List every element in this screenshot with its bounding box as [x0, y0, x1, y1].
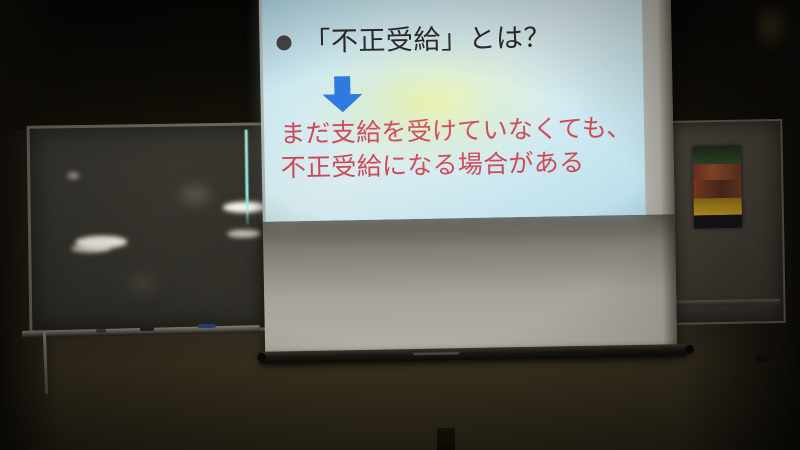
poster-band — [693, 146, 741, 165]
slide-title-row: 「不正受給」とは？ — [276, 24, 551, 56]
grey-marker — [96, 329, 106, 333]
slide-content: 「不正受給」とは？ まだ支給を受けていなくても、 不正受給になる場合がある — [262, 0, 646, 222]
light-glare — [71, 244, 111, 254]
light-glare — [67, 172, 79, 179]
projected-slide: 「不正受給」とは？ まだ支給を受けていなくても、 不正受給になる場合がある — [262, 0, 646, 222]
whiteboard-frame — [27, 122, 278, 333]
light-glare — [227, 229, 261, 237]
poster-band — [694, 198, 742, 215]
poster-band — [693, 180, 741, 199]
slide-body-line: 不正受給になる場合がある — [280, 144, 632, 184]
screen-bar-end-cap — [257, 353, 266, 362]
corner-object — [756, 4, 792, 52]
light-glare — [75, 235, 127, 249]
projection-screen: 「不正受給」とは？ まだ支給を受けていなくても、 不正受給になる場合がある — [259, 0, 678, 362]
blue-marker — [198, 324, 216, 328]
slide-body: まだ支給を受けていなくても、 不正受給になる場合がある — [280, 111, 633, 184]
bullet-dot-icon — [276, 35, 291, 50]
poster-band — [694, 214, 742, 228]
black-marker — [140, 327, 154, 331]
slide-title: 「不正受給」とは？ — [303, 24, 551, 56]
room-photo-scene: 「不正受給」とは？ まだ支給を受けていなくても、 不正受給になる場合がある — [0, 0, 800, 450]
screen-bar-end-cap — [685, 345, 694, 354]
dark-object — [437, 428, 455, 450]
colorful-poster — [693, 146, 742, 229]
light-glare — [130, 275, 156, 291]
left-whiteboard — [27, 122, 278, 333]
right-whiteboard — [658, 119, 786, 325]
light-beam-streak — [245, 130, 249, 225]
arrow-down-icon — [319, 74, 366, 115]
screen-unlit-area — [263, 214, 677, 362]
light-glare — [180, 184, 210, 204]
poster-band — [693, 164, 741, 181]
wall-rail-nub — [756, 355, 768, 362]
